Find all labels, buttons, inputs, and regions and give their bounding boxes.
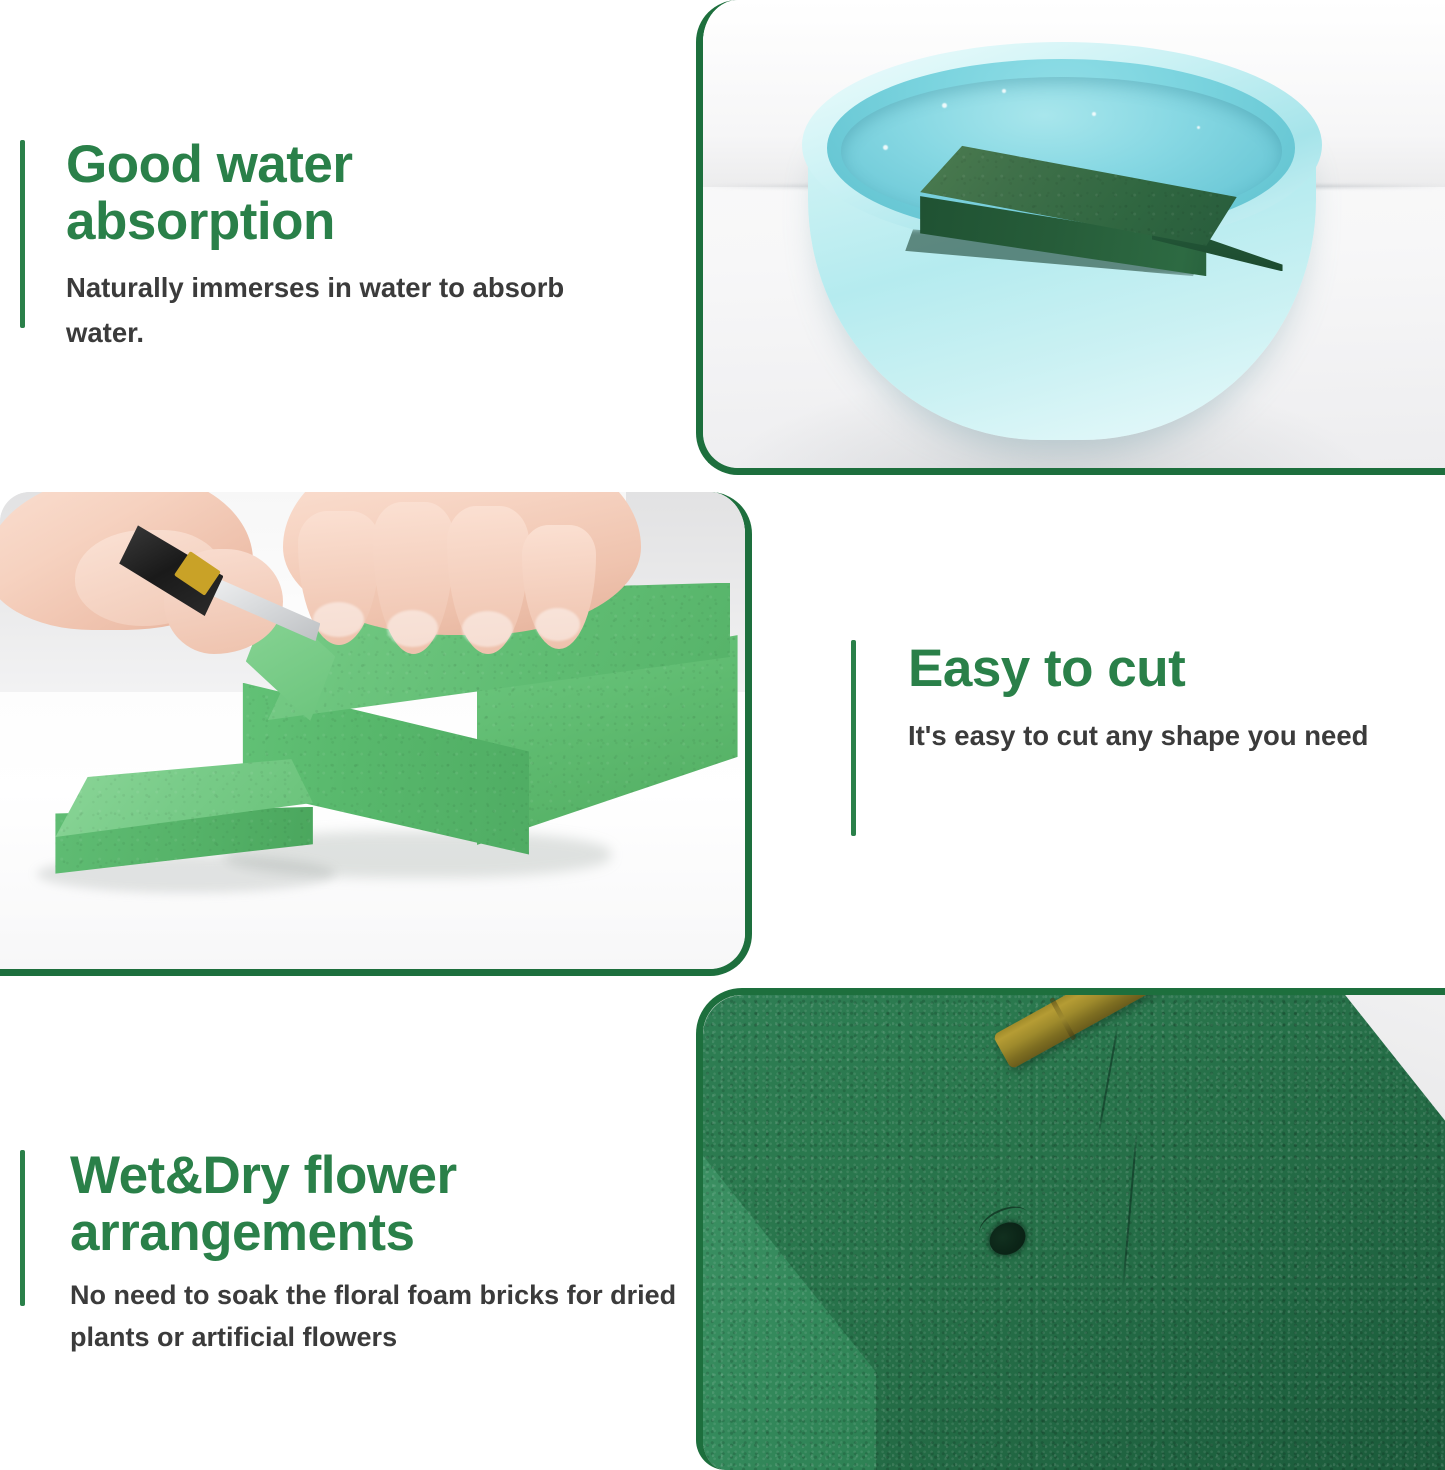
fingernail	[535, 608, 580, 640]
bowl-photo-inner	[703, 0, 1445, 468]
fingernail	[462, 611, 513, 646]
feature-text-group: Good water absorption Naturally immerses…	[66, 136, 576, 356]
feature-good-water-absorption: Good water absorption Naturally immerses…	[20, 140, 580, 330]
feature-title: Easy to cut	[908, 640, 1408, 697]
feature-description: It's easy to cut any shape you need	[908, 715, 1408, 756]
photo-stick-inserted-in-foam	[696, 988, 1445, 1470]
photo-foam-brick-soaking-in-bowl	[696, 0, 1445, 475]
feature-easy-to-cut: Easy to cut It's easy to cut any shape y…	[851, 640, 1411, 836]
bamboo-node	[1050, 997, 1077, 1040]
fingernail	[313, 602, 364, 637]
fingernail	[387, 610, 438, 647]
feature-title: Wet&Dry flower arrangements	[70, 1147, 710, 1261]
feature-text-group: Wet&Dry flower arrangements No need to s…	[70, 1147, 710, 1358]
feature-title: Good water absorption	[66, 136, 576, 250]
water-droplet	[883, 145, 888, 150]
product-feature-infographic: { "accent_color": "#2a8049", "border_col…	[0, 0, 1445, 1470]
accent-bar-icon	[851, 640, 856, 836]
accent-bar-icon	[20, 140, 25, 328]
feature-description: No need to soak the floral foam bricks f…	[70, 1275, 710, 1357]
photo-hands-cutting-foam-brick	[0, 492, 752, 976]
stick-photo-inner	[703, 995, 1445, 1470]
feature-wet-dry-flower-arrangements: Wet&Dry flower arrangements No need to s…	[20, 1150, 700, 1306]
feature-text-group: Easy to cut It's easy to cut any shape y…	[908, 640, 1408, 756]
feature-description: Naturally immerses in water to absorb wa…	[66, 266, 576, 355]
cut-photo-inner	[0, 492, 745, 969]
accent-bar-icon	[20, 1150, 25, 1306]
